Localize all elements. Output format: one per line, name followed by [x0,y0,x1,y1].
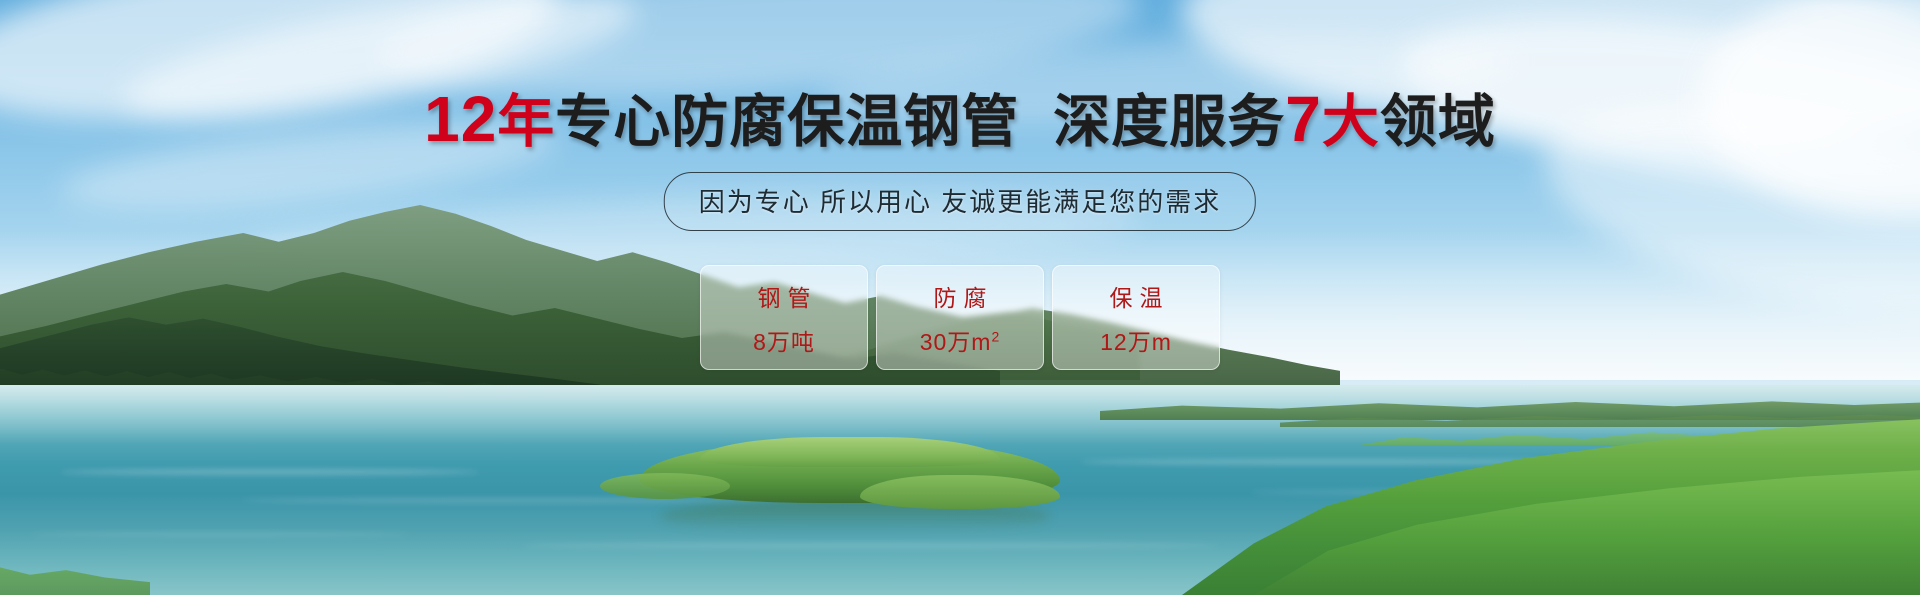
stat-card-value-text: 8万吨 [753,329,815,355]
stat-card-value: 30万m2 [920,323,1001,357]
headline-years-unit: 年 [497,90,555,154]
stat-card-value-text: 30万m [920,329,992,355]
stat-card-value-superscript: 2 [991,328,1000,344]
promo-banner: 12年专心防腐保温钢管深度服务7大领域 因为专心 所以用心 友诚更能满足您的需求… [0,0,1920,595]
subtitle-pill: 因为专心 所以用心 友诚更能满足您的需求 [664,172,1256,231]
stat-card-value-text: 12万m [1100,329,1172,355]
stat-card-label: 保温 [1103,279,1170,313]
headline-fields-number: 7 [1285,83,1322,155]
headline-main-text: 专心防腐保温钢管 [555,90,1019,154]
stat-card-label: 防腐 [927,279,994,313]
stat-card-value: 12万m [1100,323,1172,357]
stat-card-insulation[interactable]: 保温 12万m [1052,265,1220,370]
headline-service-text: 深度服务 [1053,90,1285,154]
stat-card-value: 8万吨 [753,323,815,357]
headline: 12年专心防腐保温钢管深度服务7大领域 [0,86,1920,153]
headline-years-number: 12 [424,83,497,155]
stat-card-label: 钢管 [751,279,818,313]
banner-content: 12年专心防腐保温钢管深度服务7大领域 因为专心 所以用心 友诚更能满足您的需求… [0,0,1920,595]
stat-cards: 钢管 8万吨 防腐 30万m2 保温 12万m [700,265,1220,370]
stat-card-steel-pipe[interactable]: 钢管 8万吨 [700,265,868,370]
headline-fields-unit: 大 [1322,90,1380,154]
stat-card-anticorrosion[interactable]: 防腐 30万m2 [876,265,1044,370]
headline-fields-text: 领域 [1380,90,1496,154]
